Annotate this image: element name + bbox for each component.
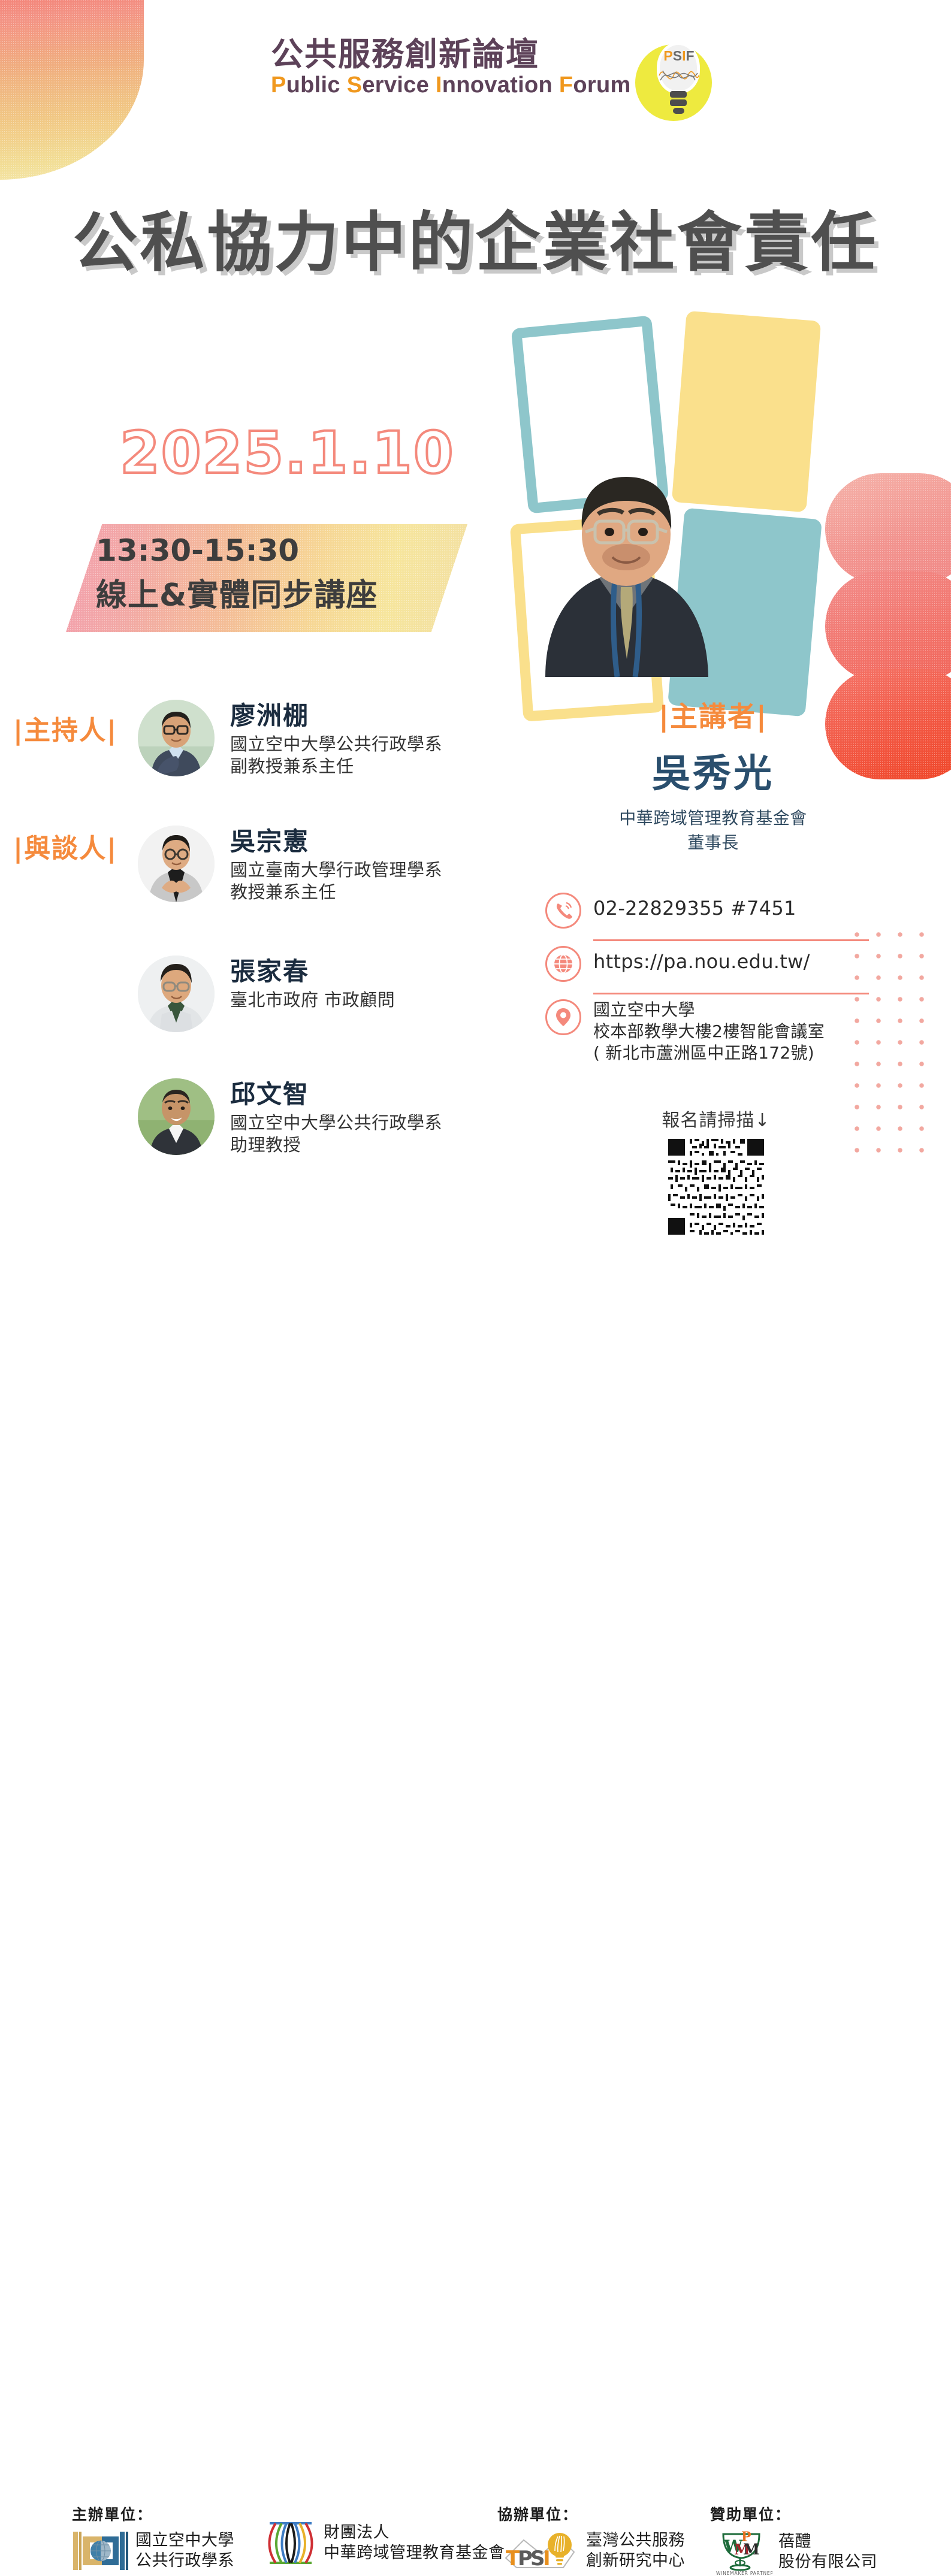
avatar bbox=[138, 826, 215, 902]
role-label-moderator: |主持人| bbox=[13, 709, 117, 747]
person-affiliation: 國立臺南大學行政管理學系 教授兼系主任 bbox=[230, 859, 442, 903]
organizer-item-1: 國立空中大學 公共行政學系 bbox=[72, 2528, 234, 2574]
person-info: 邱文智 國立空中大學公共行政學系 助理教授 bbox=[230, 1078, 442, 1156]
svg-text:I: I bbox=[543, 2547, 551, 2571]
organizer-item-2: 財團法人 中華跨域管理教育基金會 bbox=[264, 2520, 505, 2566]
organizer-name-1: 國立空中大學 公共行政學系 bbox=[135, 2530, 234, 2571]
contact-block: 02-22829355 #7451 https://pa.nou.edu.tw/ bbox=[545, 891, 881, 1063]
event-mode: 線上&實體同步講座 bbox=[96, 570, 427, 615]
phone-ringing-icon bbox=[545, 893, 581, 929]
person-card-moderator: 廖洲棚 國立空中大學公共行政學系 副教授兼系主任 bbox=[138, 700, 442, 777]
person-card-discussant-3: 邱文智 國立空中大學公共行政學系 助理教授 bbox=[138, 1078, 442, 1156]
coorganizer-heading: 協辦單位： bbox=[497, 2503, 685, 2524]
contact-divider-1 bbox=[593, 939, 869, 941]
logo-bulb-base-3 bbox=[673, 108, 684, 114]
contact-divider-2 bbox=[593, 993, 869, 994]
person-card-discussant-1: 吳宗憲 國立臺南大學行政管理學系 教授兼系主任 bbox=[138, 826, 442, 903]
gradient-blob-top-left bbox=[0, 0, 144, 180]
keynote-speaker-block: |主講者| 吳秀光 中華跨域管理教育基金會 董事長 bbox=[557, 695, 869, 855]
person-name: 吳宗憲 bbox=[230, 828, 442, 855]
globe-icon bbox=[545, 946, 581, 982]
keynote-speaker-photo bbox=[509, 377, 743, 677]
initial-p: P bbox=[271, 72, 286, 98]
tpsi-logo-icon: T P S I bbox=[497, 2528, 580, 2574]
contact-row-address: 國立空中大學 校本部教學大樓2樓智能會議室 ( 新北市蘆洲區中正路172號) bbox=[545, 998, 881, 1063]
forum-name-cn: 公共服務創新論壇 bbox=[271, 37, 690, 71]
person-affiliation: 國立空中大學公共行政學系 助理教授 bbox=[230, 1112, 442, 1156]
sponsor-item-1: W M M P WINEMAKER PARTNER 蓓醴 股份有限公司 bbox=[710, 2528, 877, 2576]
person-affiliation: 國立空中大學公共行政學系 副教授兼系主任 bbox=[230, 733, 442, 777]
footer-group-organizers: 主辦單位： bbox=[72, 2503, 234, 2574]
initial-i: I bbox=[436, 72, 442, 98]
person-card-discussant-2: 張家春 臺北市政府 市政顧問 bbox=[138, 956, 395, 1032]
person-info: 吳宗憲 國立臺南大學行政管理學系 教授兼系主任 bbox=[230, 826, 442, 903]
initial-f: F bbox=[559, 72, 573, 98]
logo-psif-text: PSIF bbox=[659, 48, 699, 64]
role-label-discussant: |與談人| bbox=[13, 827, 117, 865]
avatar bbox=[138, 1078, 215, 1155]
organizer-name-2: 財團法人 中華跨域管理教育基金會 bbox=[324, 2523, 505, 2563]
poster-main-title: 公私協力中的企業社會責任 bbox=[0, 191, 951, 284]
keynote-speaker-affiliation: 中華跨域管理教育基金會 董事長 bbox=[557, 806, 869, 855]
forum-brand: 公共服務創新論壇 Public Service Innovation Forum bbox=[271, 37, 690, 133]
registration-qr-code[interactable] bbox=[666, 1136, 766, 1237]
person-info: 張家春 臺北市政府 市政顧問 bbox=[230, 956, 395, 1011]
contact-address: 國立空中大學 校本部教學大樓2樓智能會議室 ( 新北市蘆洲區中正路172號) bbox=[593, 998, 825, 1063]
contact-row-website: https://pa.nou.edu.tw/ bbox=[545, 945, 881, 989]
keynote-speaker-name: 吳秀光 bbox=[557, 743, 869, 798]
registration-label: 報名請掃描↓ bbox=[620, 1105, 812, 1132]
map-pin-icon bbox=[545, 999, 581, 1035]
cross-domain-foundation-logo-icon bbox=[264, 2520, 318, 2566]
coorganizer-item-1: T P S I 臺灣公共服務 創新研究中心 bbox=[497, 2528, 685, 2574]
initial-s: S bbox=[347, 72, 363, 98]
sponsor-name-1: 蓓醴 股份有限公司 bbox=[778, 2532, 877, 2572]
person-name: 邱文智 bbox=[230, 1081, 442, 1108]
organizer-heading: 主辦單位： bbox=[72, 2503, 234, 2524]
lobe-middle bbox=[825, 571, 951, 682]
person-name: 張家春 bbox=[230, 958, 395, 985]
avatar bbox=[138, 956, 215, 1032]
logo-bulb-base-1 bbox=[670, 91, 687, 98]
event-date: 2025.1.10 bbox=[120, 419, 455, 486]
event-time: 13:30-15:30 bbox=[96, 534, 427, 567]
logo-bulb-base-2 bbox=[670, 99, 687, 106]
contact-row-phone: 02-22829355 #7451 bbox=[545, 891, 881, 936]
registration-block: 報名請掃描↓ bbox=[620, 1105, 812, 1237]
coorganizer-name-1: 臺灣公共服務 創新研究中心 bbox=[586, 2530, 685, 2571]
contact-phone[interactable]: 02-22829355 #7451 bbox=[593, 891, 796, 921]
logo-waveform-icon bbox=[658, 62, 700, 89]
nou-logo-icon bbox=[72, 2528, 129, 2574]
person-info: 廖洲棚 國立空中大學公共行政學系 副教授兼系主任 bbox=[230, 700, 442, 777]
footer-sponsors: 主辦單位： bbox=[0, 1245, 951, 1345]
forum-name-en: Public Service Innovation Forum bbox=[271, 72, 690, 98]
footer-group-organizer-2: 財團法人 中華跨域管理教育基金會 bbox=[264, 2520, 505, 2566]
lobe-upper bbox=[825, 473, 951, 584]
role-label-keynote: |主講者| bbox=[557, 695, 869, 734]
footer-group-sponsors: 贊助單位： W M M P WINEMAKER PARTNER 蓓 bbox=[710, 2503, 877, 2576]
poster-canvas: 公共服務創新論壇 Public Service Innovation Forum… bbox=[0, 0, 951, 1345]
avatar bbox=[138, 700, 215, 776]
event-time-banner-text: 13:30-15:30 線上&實體同步講座 bbox=[67, 527, 427, 632]
winemaker-partner-logo-icon: W M M P WINEMAKER PARTNER bbox=[710, 2528, 772, 2576]
svg-text:P: P bbox=[741, 2529, 751, 2545]
contact-website[interactable]: https://pa.nou.edu.tw/ bbox=[593, 945, 810, 975]
person-name: 廖洲棚 bbox=[230, 702, 442, 730]
person-affiliation: 臺北市政府 市政顧問 bbox=[230, 989, 395, 1011]
sponsor-heading: 贊助單位： bbox=[710, 2503, 877, 2524]
footer-group-coorganizers: 協辦單位： T P S bbox=[497, 2503, 685, 2574]
svg-text:WINEMAKER PARTNER: WINEMAKER PARTNER bbox=[716, 2571, 772, 2576]
psif-lightbulb-icon: PSIF bbox=[630, 37, 720, 127]
